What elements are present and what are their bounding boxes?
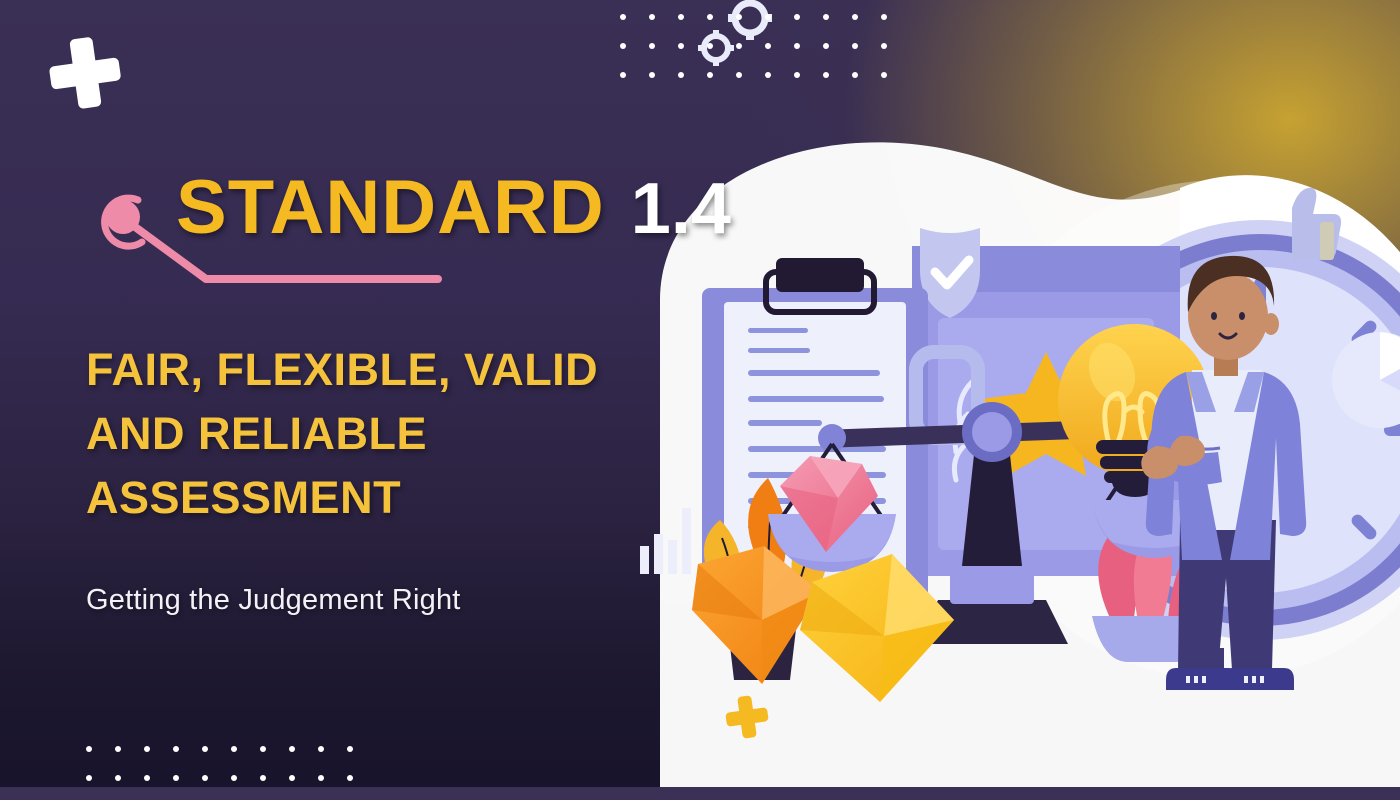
dot [707,43,713,49]
page-title: FAIR, FLEXIBLE, VALID AND RELIABLE ASSES… [86,338,706,530]
dot [260,775,266,781]
dot [115,746,121,752]
standard-label: STANDARD [176,170,605,246]
dot-grid-icon [86,746,353,781]
dot [289,746,295,752]
dot [260,746,266,752]
dot [347,775,353,781]
slide-canvas: STANDARD 1.4 FAIR, FLEXIBLE, VALID AND R… [0,0,1400,800]
dot [649,14,655,20]
bottom-accent-bar [0,787,1400,800]
dot [318,746,324,752]
dot [231,775,237,781]
dot [202,775,208,781]
dot [881,14,887,20]
standard-version: 1.4 [631,173,731,245]
slide-eyebrow: STANDARD 1.4 [176,170,731,246]
dot [678,43,684,49]
dot [173,746,179,752]
headline-line-3: ASSESSMENT [86,466,706,530]
dot [823,72,829,78]
dot [649,72,655,78]
dot-grid-row [620,43,887,49]
dot [707,72,713,78]
dot [173,775,179,781]
plus-icon [45,33,124,112]
dot-grid-row [620,14,887,20]
dot [620,43,626,49]
headline-line-2: AND RELIABLE [86,402,706,466]
dot [620,14,626,20]
dot [86,746,92,752]
plus-icon [723,693,770,740]
dot [144,746,150,752]
dot-grid-row [86,775,353,781]
dot-grid-row [620,72,887,78]
dot [289,775,295,781]
dot [852,43,858,49]
dot [823,43,829,49]
dot [823,14,829,20]
dot-grid-row [86,746,353,752]
dot [347,746,353,752]
dot [678,72,684,78]
dot [649,43,655,49]
dot [736,72,742,78]
dot [794,43,800,49]
dot [765,43,771,49]
dot [736,43,742,49]
dot [852,14,858,20]
dot [881,43,887,49]
dot [86,775,92,781]
dot [318,775,324,781]
dot [794,14,800,20]
dot [881,72,887,78]
dot [202,746,208,752]
dot [736,14,742,20]
dot [794,72,800,78]
dot [765,72,771,78]
dot [852,72,858,78]
dot-grid-icon [620,14,887,78]
dot [115,775,121,781]
dot [144,775,150,781]
dot [620,72,626,78]
assessment-illustration [620,0,1400,800]
dot [765,14,771,20]
dot [231,746,237,752]
dot [678,14,684,20]
headline-line-1: FAIR, FLEXIBLE, VALID [86,338,706,402]
page-subtitle: Getting the Judgement Right [86,584,461,617]
dot [707,14,713,20]
